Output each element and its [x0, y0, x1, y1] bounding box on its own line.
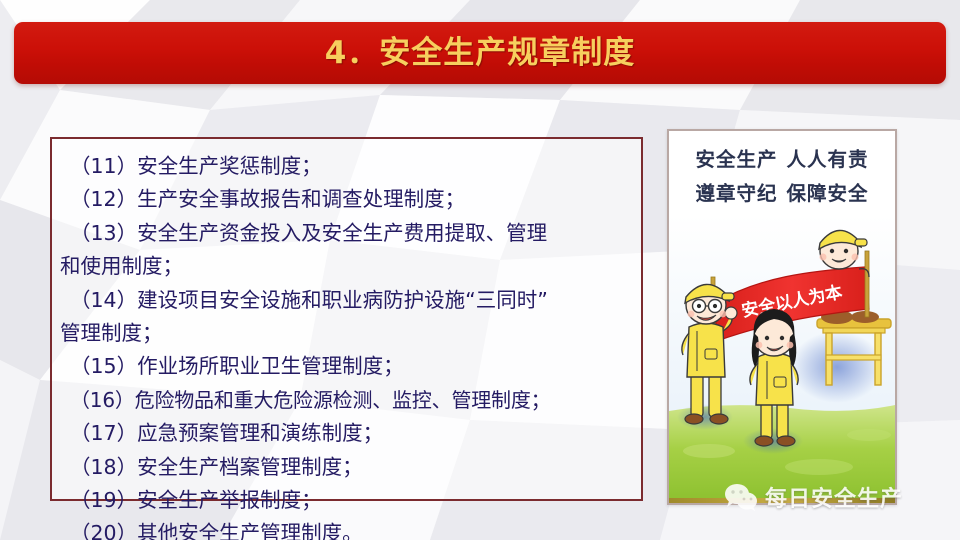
wechat-watermark: 每日安全生产 [724, 481, 903, 513]
rule-line: （13）安全生产资金投入及安全生产费用提取、管理 [60, 217, 637, 250]
rule-line: （14）建设项目安全设施和职业病防护设施“三同时” [60, 284, 637, 317]
safety-poster-panel: 安全生产人人有责 遵章守纪保障安全 [667, 129, 897, 505]
rules-list: （11）安全生产奖惩制度；（12）生产安全事故报告和调查处理制度；（13）安全生… [60, 150, 637, 540]
rules-content-box: （11）安全生产奖惩制度；（12）生产安全事故报告和调查处理制度；（13）安全生… [50, 137, 643, 501]
rule-line: （15）作业场所职业卫生管理制度； [60, 350, 637, 383]
poster-headline-row: 安全生产人人有责 [669, 143, 895, 177]
watermark-text: 每日安全生产 [765, 481, 903, 513]
poster-headline-left-2: 遵章守纪 [695, 182, 777, 205]
rule-line: （12）生产安全事故报告和调查处理制度； [60, 183, 637, 216]
rule-line: 管理制度； [60, 317, 637, 350]
poster-headline-right-1: 人人有责 [787, 148, 869, 171]
wechat-icon [724, 483, 758, 511]
poster-headline: 安全生产人人有责 遵章守纪保障安全 [669, 143, 895, 211]
rule-line: （20）其他安全生产管理制度。 [60, 517, 637, 540]
rule-line: 和使用制度； [60, 250, 637, 283]
rule-line: （16）危险物品和重大危险源检测、监控、管理制度； [60, 384, 637, 417]
poster-headline-left-1: 安全生产 [695, 148, 777, 171]
slide-canvas: 4．安全生产规章制度 （11）安全生产奖惩制度；（12）生产安全事故报告和调查处… [0, 0, 960, 540]
slide-title-bar: 4．安全生产规章制度 [14, 22, 946, 84]
poster-headline-row: 遵章守纪保障安全 [669, 177, 895, 211]
safety-cartoon-illustration: 安全以人为本 [669, 215, 895, 503]
page-title: 4．安全生产规章制度 [325, 38, 636, 69]
rule-line: （19）安全生产举报制度； [60, 484, 637, 517]
rule-line: （18）安全生产档案管理制度； [60, 451, 637, 484]
poster-headline-right-2: 保障安全 [787, 182, 869, 205]
rule-line: （11）安全生产奖惩制度； [60, 150, 637, 183]
rule-line: （17）应急预案管理和演练制度； [60, 417, 637, 450]
